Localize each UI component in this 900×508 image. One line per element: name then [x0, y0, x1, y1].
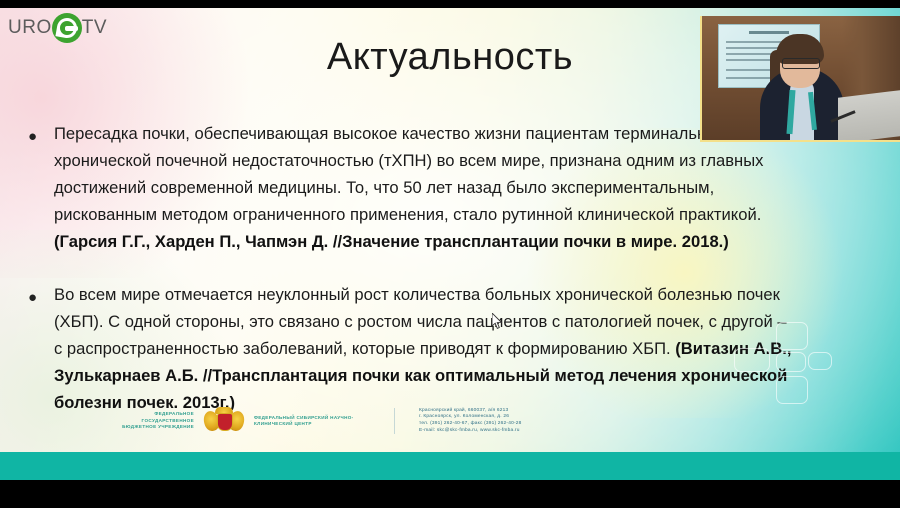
- footer-branding: ФЕДЕРАЛЬНОЕ ГОСУДАРСТВЕННОЕ БЮДЖЕТНОЕ УЧ…: [118, 407, 521, 435]
- decorative-square: [808, 352, 832, 370]
- webcam-person-glasses: [782, 58, 820, 69]
- bullet-marker-icon: ●: [28, 281, 54, 305]
- bullet-text-2: Во всем мире отмечается неуклонный рост …: [54, 281, 798, 416]
- bullet-body-1: Пересадка почки, обеспечивающая высокое …: [54, 124, 763, 224]
- org-name-left: ФЕДЕРАЛЬНОЕ ГОСУДАРСТВЕННОЕ БЮДЖЕТНОЕ УЧ…: [118, 411, 194, 430]
- bullet-item-2: ● Во всем мире отмечается неуклонный рос…: [28, 281, 798, 416]
- bullet-text-1: Пересадка почки, обеспечивающая высокое …: [54, 120, 798, 255]
- footer-accent-bar: [0, 452, 900, 480]
- logo-text-suffix: TV: [82, 17, 107, 39]
- address-line: г. Красноярск, ул. Коломенская, д. 26: [419, 414, 521, 421]
- emblem-shield: [217, 413, 233, 431]
- logo-text-prefix: URO: [8, 17, 52, 39]
- presenter-webcam-inset[interactable]: [700, 16, 900, 142]
- address-line: тел. (391) 262-40-67, факс (391) 262-40-…: [419, 421, 521, 428]
- address-line: E-mail: skc@skc-fmba.ru, www.skc-fmba.ru: [419, 428, 521, 435]
- russian-federation-emblem-icon: [204, 407, 244, 435]
- slide-footer: ФЕДЕРАЛЬНОЕ ГОСУДАРСТВЕННОЕ БЮДЖЕТНОЕ УЧ…: [0, 398, 900, 444]
- urotv-watermark-logo: URO TV: [8, 12, 107, 44]
- footer-address-block: Красноярский край, 660037, а/я 6213 г. К…: [419, 408, 521, 434]
- slide-body: ● Пересадка почки, обеспечивающая высоко…: [28, 120, 798, 442]
- top-letterbox: [0, 0, 900, 8]
- video-player-frame: Актуальность ● Пересадка почки, обеспечи…: [0, 0, 900, 508]
- logo-inner-cut: [65, 26, 78, 31]
- bullet-marker-icon: ●: [28, 120, 54, 144]
- bullet-item-1: ● Пересадка почки, обеспечивающая высоко…: [28, 120, 798, 255]
- presentation-slide: Актуальность ● Пересадка почки, обеспечи…: [0, 8, 900, 480]
- screen-heading-line: [749, 31, 789, 34]
- footer-divider: [394, 408, 395, 434]
- org-name-right: ФЕДЕРАЛЬНЫЙ СИБИРСКИЙ НАУЧНО-КЛИНИЧЕСКИЙ…: [254, 415, 374, 428]
- webcam-video-frame: [702, 16, 900, 140]
- bullet-reference-1: (Гарсия Г.Г., Харден П., Чапмэн Д. //Зна…: [54, 232, 729, 251]
- urotv-leaf-mark-icon: [50, 12, 84, 44]
